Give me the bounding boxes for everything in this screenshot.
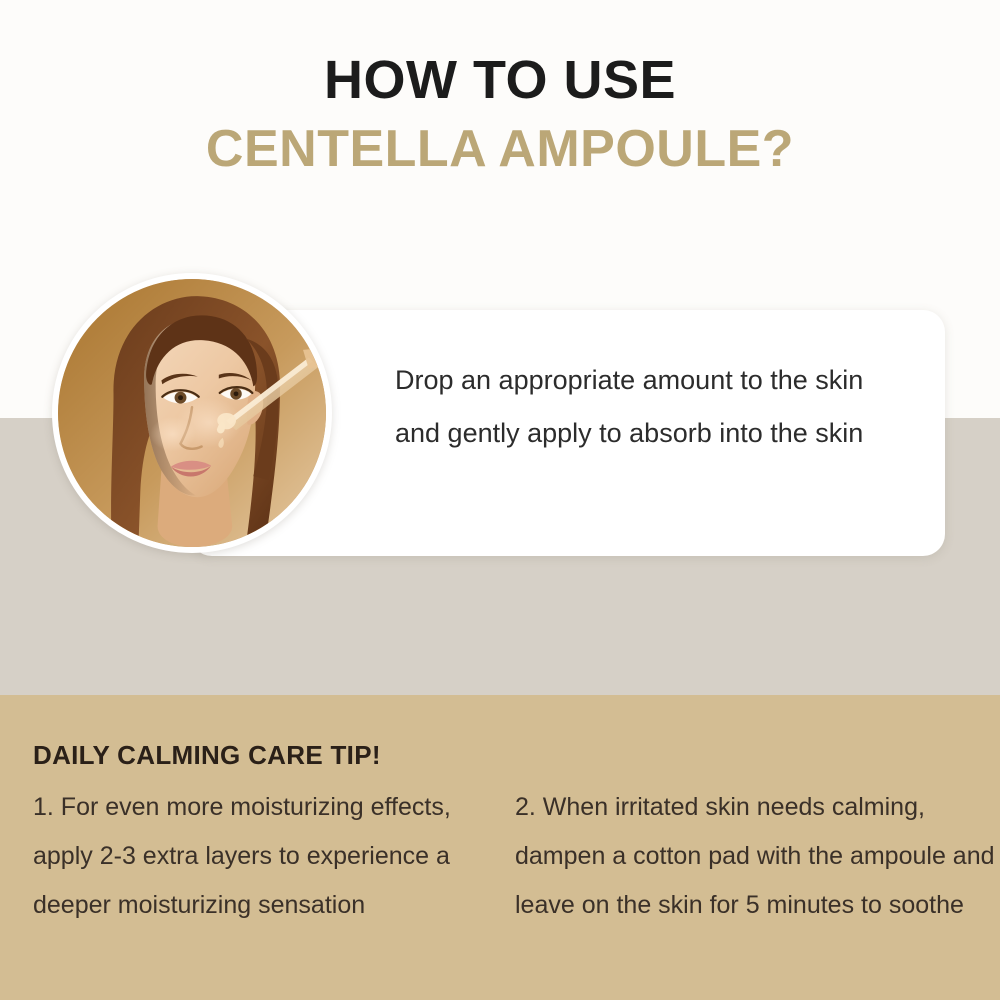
infographic-page: HOW TO USE CENTELLA AMPOULE? Drop an app…	[0, 0, 1000, 1000]
model-photo-inner	[58, 279, 326, 547]
tip-item-2: 2. When irritated skin needs calming, da…	[500, 783, 1000, 929]
daily-tip-section: DAILY CALMING CARE TIP! 1. For even more…	[0, 695, 1000, 1000]
instruction-text: Drop an appropriate amount to the skin a…	[395, 354, 905, 459]
tip-columns: 1. For even more moisturizing effects, a…	[0, 783, 1000, 929]
model-photo-circle	[52, 273, 332, 553]
headline-primary: HOW TO USE	[0, 52, 1000, 108]
model-photo-illustration	[58, 279, 326, 547]
tip-section-heading: DAILY CALMING CARE TIP!	[33, 740, 381, 771]
headline-block: HOW TO USE CENTELLA AMPOULE?	[0, 52, 1000, 176]
tip-item-1: 1. For even more moisturizing effects, a…	[0, 783, 500, 929]
headline-secondary: CENTELLA AMPOULE?	[0, 122, 1000, 176]
